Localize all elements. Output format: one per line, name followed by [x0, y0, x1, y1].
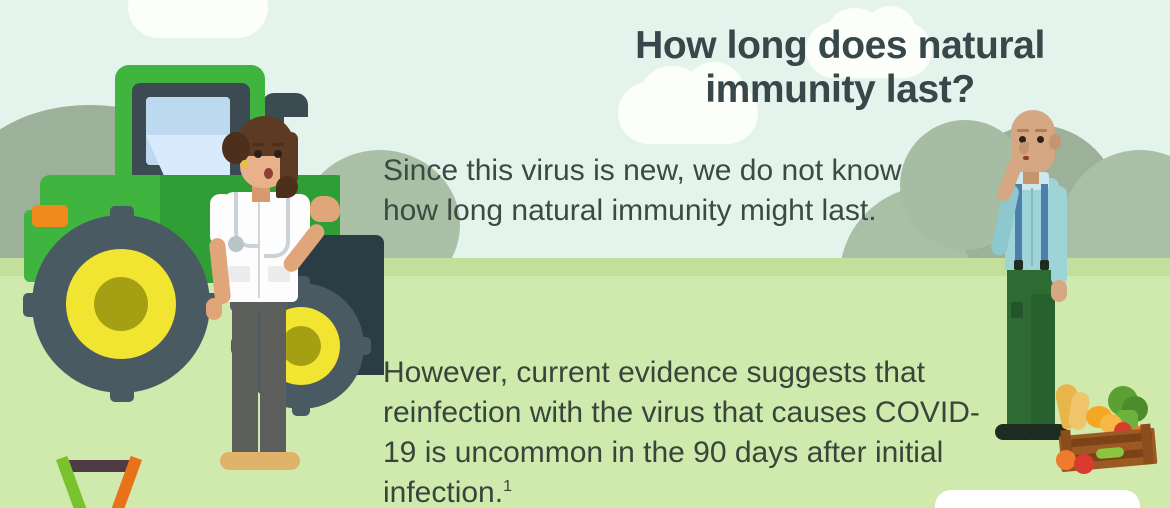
nurse-eye-right: [274, 150, 282, 158]
nurse-brow-left: [252, 143, 264, 146]
farmer-suspender-clip-right: [1040, 260, 1049, 270]
nurse-shoe-right: [256, 452, 300, 470]
farmer-hand-right: [1051, 280, 1067, 302]
page-title: How long does natural immunity last?: [560, 24, 1120, 111]
farmer-brow-right: [1035, 129, 1047, 132]
farmer-eye-right: [1037, 136, 1044, 143]
tomato-front: [1074, 454, 1094, 474]
paragraph-first: Since this virus is new, we do not know …: [383, 151, 943, 231]
nurse-eye-left: [254, 150, 262, 158]
farmer-nose: [1019, 142, 1029, 154]
stethoscope-chestpiece: [228, 236, 244, 252]
paragraph-second-text: However, current evidence suggests that …: [383, 356, 980, 508]
orange-front: [1056, 450, 1076, 470]
farmer-shirt-button-line: [1031, 188, 1033, 266]
vegetable-crate-illustration: [1052, 378, 1164, 476]
nurse-brow-right: [272, 143, 284, 146]
farmer-ear: [1049, 134, 1061, 150]
nurse-coat-pocket-left: [228, 266, 250, 282]
nurse-hand-down: [206, 298, 222, 320]
nurse-mouth: [264, 168, 273, 179]
nurse-hair-curl: [276, 176, 298, 198]
farmer-brow-left: [1017, 129, 1029, 132]
nurse-illustration: [196, 110, 356, 508]
brand-logo-partial: [50, 452, 150, 508]
nurse-leg-left: [232, 290, 258, 462]
nurse-hand-raised: [310, 196, 340, 222]
farmer-suspender-right: [1041, 184, 1048, 264]
nurse-hair-bun: [222, 132, 250, 164]
infographic-slide: How long does natural immunity last? Sin…: [0, 0, 1170, 508]
nurse-leg-right: [260, 290, 286, 462]
farmer-mouth: [1023, 156, 1029, 160]
tractor-wheel-front: [32, 215, 210, 393]
paragraph-second: However, current evidence suggests that …: [383, 353, 1003, 508]
farmer-suspender-clip-left: [1014, 260, 1023, 270]
farmer-pocket: [1011, 302, 1023, 318]
nurse-earring: [241, 160, 248, 167]
farmer-arm-right: [1051, 186, 1067, 286]
footnote-superscript: 1: [503, 478, 512, 495]
